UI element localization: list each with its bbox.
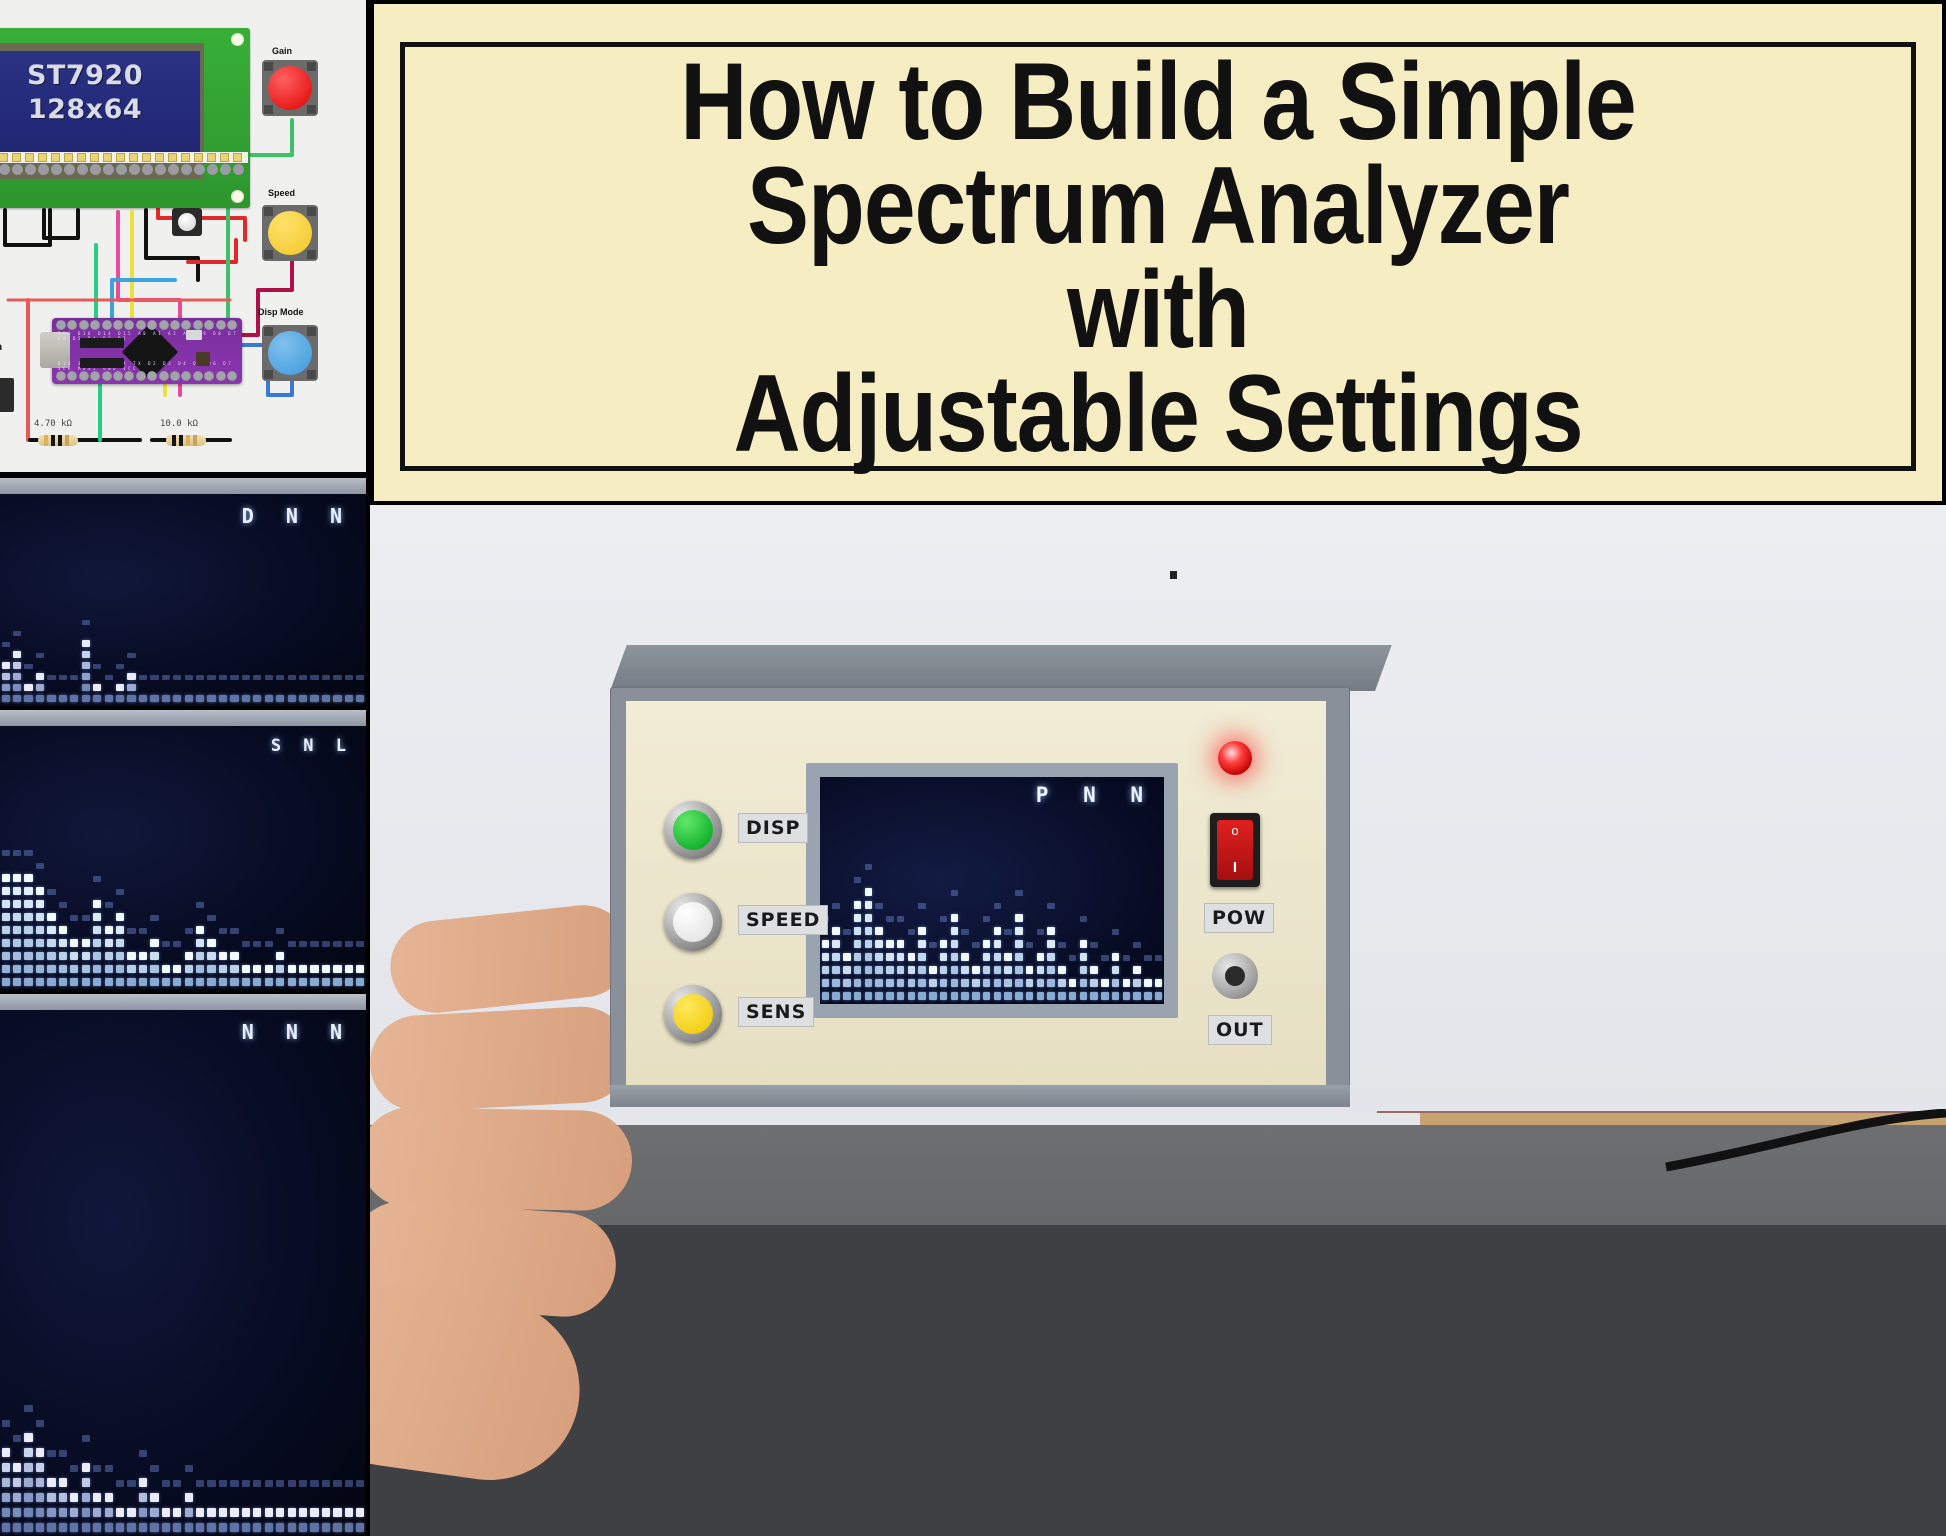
title-banner: How to Build a Simple Spectrum Analyzer … [370, 0, 1946, 505]
smd-component [80, 358, 124, 368]
lcd-screen-3: N N N [0, 1010, 366, 1536]
gain-button-diagram[interactable] [262, 60, 318, 116]
lcd-bezel [0, 994, 366, 1010]
wiring-diagram-panel: ST7920 128x64 D10 D16 D14 D15 A0 A1 A2 A… [0, 0, 366, 472]
spectrum-bars-3 [0, 1028, 366, 1532]
spectrum-analyzer-enclosure: P N N DISP SPEED SENS [610, 645, 1375, 1105]
wall-speck [1170, 571, 1177, 579]
gain-label: Gain [272, 46, 292, 56]
spectrum-bars-2 [0, 744, 366, 986]
lcd-pin-strip [0, 152, 248, 163]
finger [370, 1004, 632, 1113]
reset-button [196, 352, 210, 366]
lcd-pin-dots [0, 164, 248, 178]
enclosure-base [610, 1085, 1350, 1107]
speed-button-diagram[interactable] [262, 205, 318, 261]
power-cable [1526, 1109, 1946, 1179]
pin-row-top [56, 320, 238, 331]
pin-row-bottom [56, 371, 238, 382]
front-panel-edge [610, 687, 1350, 1105]
smd-component [80, 338, 124, 348]
lcd-bezel [0, 710, 366, 726]
screw-hole [231, 190, 244, 203]
audio-input-jack [0, 378, 14, 412]
disp-mode-label: Disp Mode [258, 307, 304, 317]
poster-canvas: ST7920 128x64 D10 D16 D14 D15 A0 A1 A2 A… [0, 0, 1946, 1536]
lcd-photo-strip-1: D N N [0, 478, 366, 706]
st7920-lcd-module: ST7920 128x64 [0, 28, 250, 208]
page-title: How to Build a Simple Spectrum Analyzer … [405, 49, 1911, 465]
enclosure-top [610, 645, 1392, 691]
product-photo: P N N DISP SPEED SENS [370, 505, 1946, 1536]
lcd-bezel [0, 478, 366, 494]
screw-hole [231, 33, 244, 46]
lcd-model-line2: 128x64 [0, 93, 200, 127]
lcd-glass: ST7920 128x64 [0, 51, 200, 161]
lcd-screen-1: D N N [0, 494, 366, 706]
contrast-potentiometer [172, 208, 202, 236]
audio-in-label: n [0, 342, 2, 353]
lcd-screen-2: S N L [0, 726, 366, 990]
lcd-photo-strip-2: S N L [0, 710, 366, 990]
speed-label: Speed [268, 188, 295, 198]
title-banner-border: How to Build a Simple Spectrum Analyzer … [400, 42, 1916, 471]
enclosure-body: P N N DISP SPEED SENS [610, 687, 1350, 1105]
smd-component [186, 330, 202, 340]
lcd-photo-strip-3: N N N [0, 994, 366, 1536]
arduino-pro-micro-board: D10 D16 D14 D15 A0 A1 A2 A3 D9 D8 D7 D6 … [52, 318, 242, 384]
finger [370, 1107, 633, 1212]
resistor-4k7 [38, 435, 78, 446]
left-column: ST7920 128x64 D10 D16 D14 D15 A0 A1 A2 A… [0, 0, 366, 1536]
finger [386, 901, 634, 1018]
resistor-4k7-value: 4.70 kΩ [34, 419, 72, 429]
spectrum-bars-1 [0, 512, 366, 702]
resistor-10k [166, 435, 206, 446]
disp-mode-button-diagram[interactable] [262, 325, 318, 381]
lcd-model-line1: ST7920 [0, 59, 200, 93]
title-line-4: Adjustable Settings [405, 351, 1911, 474]
resistor-10k-value: 10.0 kΩ [160, 419, 198, 429]
